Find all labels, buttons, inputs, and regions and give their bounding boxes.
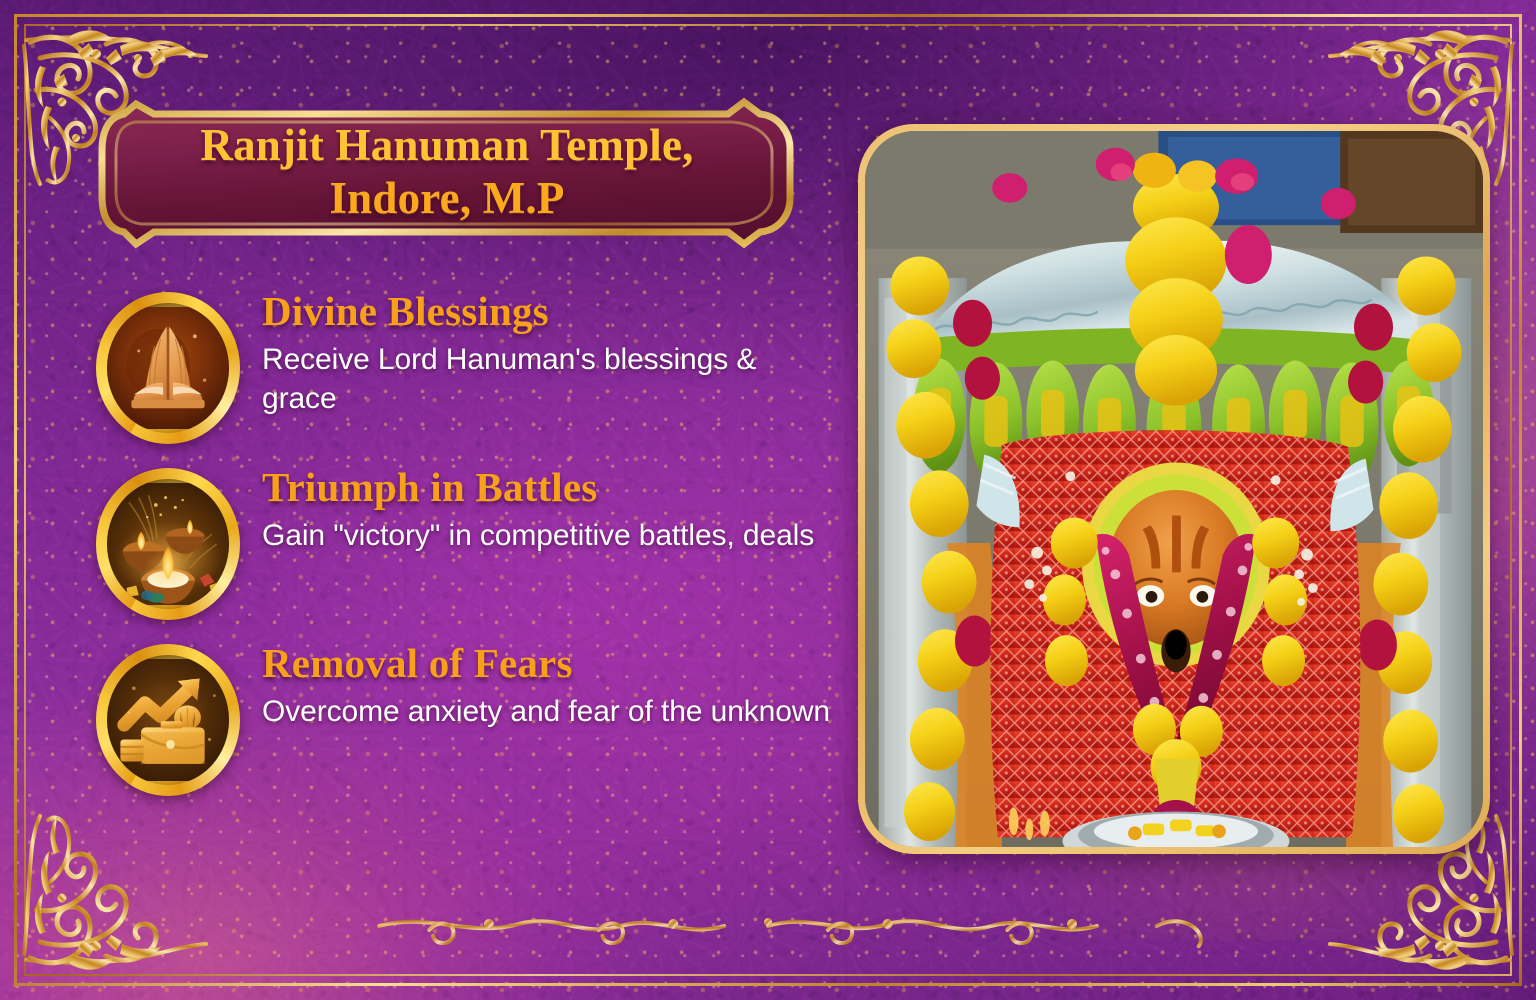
feature-description: Gain "victory" in competitive battles, d…	[262, 516, 814, 555]
hanuman-deity-photo[interactable]	[858, 124, 1490, 854]
page-title: Ranjit Hanuman Temple, Indore, M.P	[96, 86, 798, 258]
feature-title: Triumph in Battles	[262, 466, 814, 509]
praying-hands-icon	[96, 292, 240, 444]
filigree-corner-icon	[10, 809, 225, 994]
briefcase-growth-icon	[96, 644, 240, 796]
feature-item-divine-blessings[interactable]: Divine Blessings Receive Lord Hanuman's …	[96, 288, 836, 464]
diya-lamps-icon	[96, 468, 240, 620]
feature-title: Divine Blessings	[262, 290, 836, 333]
content-column: Ranjit Hanuman Temple, Indore, M.P	[96, 86, 836, 816]
photo-image	[865, 131, 1483, 847]
feature-description: Receive Lord Hanuman's blessings & grace	[262, 340, 836, 418]
feature-text: Triumph in Battles Gain "victory" in com…	[262, 464, 814, 555]
feature-text: Removal of Fears Overcome anxiety and fe…	[262, 640, 830, 731]
poster-canvas: Ranjit Hanuman Temple, Indore, M.P	[0, 0, 1536, 1000]
feature-item-removal-of-fears[interactable]: Removal of Fears Overcome anxiety and fe…	[96, 640, 836, 816]
title-banner: Ranjit Hanuman Temple, Indore, M.P	[96, 86, 798, 258]
feature-list: Divine Blessings Receive Lord Hanuman's …	[96, 288, 836, 816]
feature-item-triumph-in-battles[interactable]: Triumph in Battles Gain "victory" in com…	[96, 464, 836, 640]
scroll-flourish-icon	[130, 908, 1406, 948]
feature-title: Removal of Fears	[262, 642, 830, 685]
title-line-1: Ranjit Hanuman Temple,	[200, 119, 693, 172]
title-line-2: Indore, M.P	[329, 172, 564, 225]
feature-text: Divine Blessings Receive Lord Hanuman's …	[262, 288, 836, 418]
feature-description: Overcome anxiety and fear of the unknown	[262, 692, 830, 731]
